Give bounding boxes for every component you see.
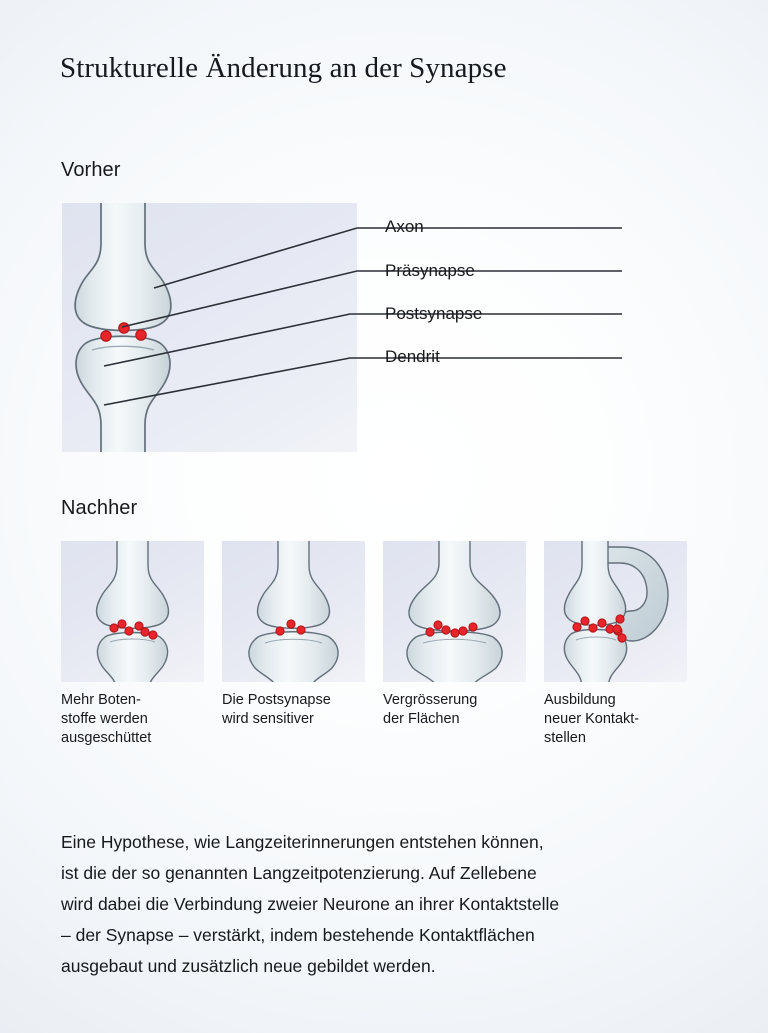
callout-label-praesynapse: Präsynapse xyxy=(385,261,475,281)
presynapse-shape-enlarged xyxy=(409,541,500,631)
caption-line: Mehr Boten- xyxy=(61,691,213,710)
caption-line: Die Postsynapse xyxy=(222,691,374,710)
callout-label-postsynapse: Postsynapse xyxy=(385,304,482,324)
section-heading-before: Vorher xyxy=(61,159,121,182)
panel-caption-more-sensitive: Die Postsynapse wird sensitiver xyxy=(222,691,374,729)
infographic-page: Strukturelle Änderung an der Synapse Vor… xyxy=(0,0,768,1033)
synapse-illustration xyxy=(62,203,357,452)
panel-caption-new-contacts: Ausbildung neuer Kontakt- stellen xyxy=(544,691,696,748)
callout-label-axon: Axon xyxy=(385,217,424,237)
caption-line: stellen xyxy=(544,729,696,748)
caption-line: wird sensitiver xyxy=(222,710,374,729)
caption-line: neuer Kontakt- xyxy=(544,710,696,729)
synapse-illustration-new-contacts xyxy=(544,541,687,682)
page-title: Strukturelle Änderung an der Synapse xyxy=(60,52,507,85)
synapse-diagram-before xyxy=(62,203,357,452)
body-line: Eine Hypothese, wie Langzeiterinnerungen… xyxy=(61,827,726,858)
caption-line: Vergrösserung xyxy=(383,691,535,710)
caption-line: ausgeschüttet xyxy=(61,729,213,748)
presynapse-shape xyxy=(75,203,171,331)
caption-line: Ausbildung xyxy=(544,691,696,710)
panel-caption-larger-surfaces: Vergrösserung der Flächen xyxy=(383,691,535,729)
body-line: – der Synapse – verstärkt, indem bestehe… xyxy=(61,920,726,951)
body-paragraph: Eine Hypothese, wie Langzeiterinnerungen… xyxy=(61,827,726,982)
panel-caption-more-transmitters: Mehr Boten- stoffe werden ausgeschüttet xyxy=(61,691,213,748)
postsynapse-shape xyxy=(76,336,170,452)
synapse-panel-new-contacts xyxy=(544,541,687,682)
presynapse-shape xyxy=(97,541,169,628)
body-line: ist die der so genannten Langzeitpotenzi… xyxy=(61,858,726,889)
synapse-illustration-more-sensitive xyxy=(222,541,365,682)
body-line: ausgebaut und zusätzlich neue gebildet w… xyxy=(61,951,726,982)
presynapse-shape xyxy=(258,541,330,628)
synapse-panel-larger-surfaces xyxy=(383,541,526,682)
section-heading-after: Nachher xyxy=(61,497,137,520)
caption-line: stoffe werden xyxy=(61,710,213,729)
callout-label-dendrit: Dendrit xyxy=(385,347,440,367)
body-line: wird dabei die Verbindung zweier Neurone… xyxy=(61,889,726,920)
synapse-illustration-more-transmitters xyxy=(61,541,204,682)
synapse-panel-more-transmitters xyxy=(61,541,204,682)
synapse-panel-more-sensitive xyxy=(222,541,365,682)
synapse-illustration-larger-surfaces xyxy=(383,541,526,682)
caption-line: der Flächen xyxy=(383,710,535,729)
postsynapse-shape xyxy=(97,633,167,683)
